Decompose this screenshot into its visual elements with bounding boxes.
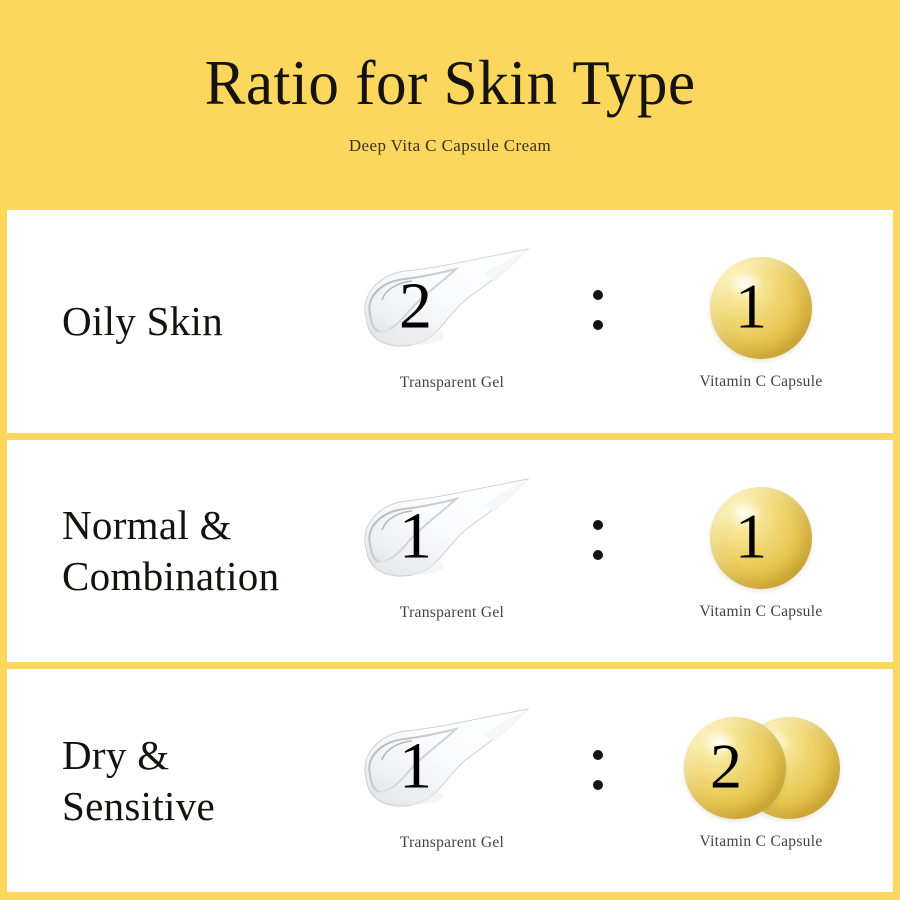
colon-dot-bottom [593, 550, 603, 560]
capsule-ratio-value: 1 [735, 505, 767, 569]
capsule-group: 1 [666, 475, 856, 601]
transparent-gel-cell: 2 Transparent Gel [337, 210, 567, 433]
transparent-gel-cell: 1 Transparent Gel [337, 440, 567, 663]
skin-type-label: Dry & Sensitive [7, 730, 337, 832]
ratio-row-list: Oily Skin [0, 210, 900, 900]
gel-ratio-value: 1 [399, 504, 432, 570]
colon-dot-top [593, 290, 603, 300]
colon-dot-top [593, 520, 603, 530]
gel-caption: Transparent Gel [400, 604, 504, 622]
capsule-group: 1 [666, 245, 856, 371]
capsule-group: 2 [666, 705, 856, 831]
capsule-ratio-value: 2 [710, 734, 742, 798]
ratio-separator [567, 520, 629, 560]
ratio-separator [567, 290, 629, 330]
gel-smear-icon [352, 704, 552, 832]
vitamin-c-capsule-cell: 1 Vitamin C Capsule [629, 440, 893, 663]
page-title: Ratio for Skin Type [205, 52, 696, 115]
gel-swatch: 1 [352, 704, 552, 832]
gel-caption: Transparent Gel [400, 834, 504, 852]
gel-swatch: 1 [352, 474, 552, 602]
gel-ratio-value: 2 [399, 274, 432, 340]
vitamin-c-capsule-cell: 2 Vitamin C Capsule [629, 669, 893, 892]
skin-type-label: Oily Skin [7, 296, 337, 347]
colon-dot-bottom [593, 320, 603, 330]
colon-dot-bottom [593, 780, 603, 790]
colon-dot-top [593, 750, 603, 760]
gel-caption: Transparent Gel [400, 374, 504, 392]
transparent-gel-cell: 1 Transparent Gel [337, 669, 567, 892]
gel-swatch: 2 [352, 244, 552, 372]
capsule-ratio-value: 1 [735, 275, 767, 339]
capsule-caption: Vitamin C Capsule [700, 603, 823, 621]
table-row[interactable]: Normal & Combination [7, 440, 893, 663]
capsule-caption: Vitamin C Capsule [700, 833, 823, 851]
table-row[interactable]: Dry & Sensitive [7, 669, 893, 892]
skin-type-label: Normal & Combination [7, 500, 337, 602]
gel-smear-icon [352, 474, 552, 602]
table-row[interactable]: Oily Skin [7, 210, 893, 433]
gel-smear-icon [352, 244, 552, 372]
header-banner: Ratio for Skin Type Deep Vita C Capsule … [0, 0, 900, 210]
page-subtitle: Deep Vita C Capsule Cream [349, 136, 551, 156]
gel-ratio-value: 1 [399, 733, 432, 799]
infographic-page: Ratio for Skin Type Deep Vita C Capsule … [0, 0, 900, 900]
capsule-caption: Vitamin C Capsule [700, 373, 823, 391]
vitamin-c-capsule-cell: 1 Vitamin C Capsule [629, 210, 893, 433]
ratio-separator [567, 750, 629, 790]
